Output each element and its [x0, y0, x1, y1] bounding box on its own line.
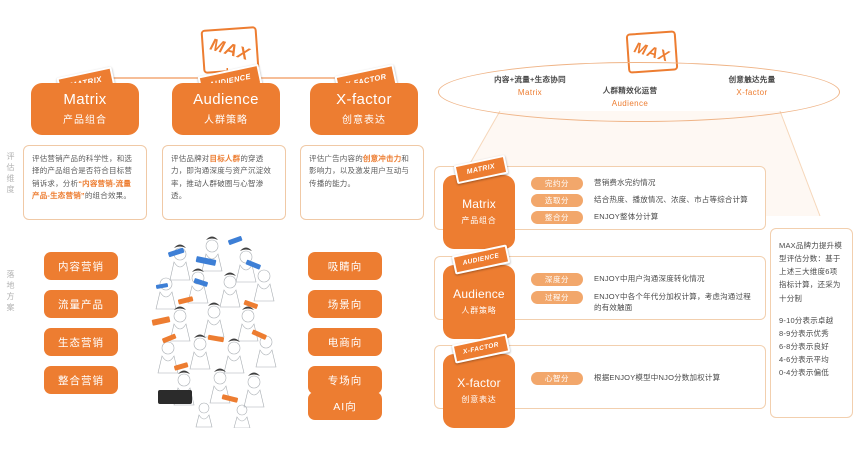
crowd-illustration-svg [150, 232, 290, 428]
score-pill-matrix-2: 整合分 [531, 211, 583, 224]
score-card-audience-en: Audience [453, 288, 505, 301]
score-card-xfactor-en: X-factor [457, 377, 501, 390]
score-card-xfactor-cn: 创意表达 [461, 394, 496, 405]
vlabel-landing-plan: 落地方案 [6, 270, 14, 314]
score-card-xfactor-badge: X-factor 创意表达 [443, 354, 515, 428]
right-tag-1[interactable]: 场景向 [308, 290, 382, 318]
infographic-root: MAX 评估维度 落地方案 MATRIX Matrix 产品组合 评估营销产品的… [0, 0, 857, 459]
right-tag-4[interactable]: AI向 [308, 392, 382, 420]
score-card-matrix-badge: Matrix 产品组合 [443, 175, 515, 249]
ellipse-item-audience-cn: 人群精效化运营 [570, 85, 690, 96]
vlabel-evaluation-dimension: 评估维度 [6, 152, 14, 196]
score-card-matrix-cn: 产品组合 [461, 215, 496, 226]
score-row-audience-0: 深度分 ENJOY中用户沟通深度转化情况 [531, 273, 757, 286]
right-tag-3[interactable]: 专场向 [308, 366, 382, 394]
pillar-audience-cn: 人群策略 [204, 111, 248, 126]
score-scale-paragraph: MAX品牌力提升模型评估分数：基于上述三大维度6项指标计算，还采为十分制 [779, 239, 844, 305]
score-desc-matrix-1: 结合热度、播放情况、浓度、市占等综合计算 [594, 194, 748, 205]
left-tag-2[interactable]: 生态营销 [44, 328, 118, 356]
pillar-audience-en: Audience [193, 92, 259, 109]
score-scale-3: 4-6分表示平均 [779, 353, 844, 366]
right-tag-0[interactable]: 吸睛向 [308, 252, 382, 280]
score-desc-matrix-0: 营销费水完约情况 [594, 177, 656, 188]
pillar-matrix-en: Matrix [63, 92, 106, 109]
score-scale-note: MAX品牌力提升模型评估分数：基于上述三大维度6项指标计算，还采为十分制 9-1… [770, 228, 853, 418]
ellipse-item-xfactor: 创意触达先量 X-factor [692, 74, 812, 97]
score-desc-matrix-2: ENJOY整体分计算 [594, 211, 659, 222]
score-card-xfactor[interactable]: X-factor 创意表达 X-FACTOR 心智分 根据ENJOY模型中NJO… [434, 345, 766, 409]
left-tag-3[interactable]: 整合营销 [44, 366, 118, 394]
score-card-audience[interactable]: Audience 人群策略 AUDIENCE 深度分 ENJOY中用户沟通深度转… [434, 256, 766, 320]
pillar-audience-desc: 评估品牌对目标人群的穿透力，即沟通深度与资产沉淀效率，推动人群破圈与心智渗透。 [162, 145, 286, 220]
pillar-audience-desc-highlight: 目标人群 [210, 154, 241, 163]
ellipse-item-audience-en: Audience [570, 99, 690, 108]
score-scale-4: 0-4分表示偏低 [779, 366, 844, 379]
score-card-audience-cn: 人群策略 [461, 305, 496, 316]
pillar-matrix-desc: 评估营销产品的科学性，和选择的产品组合是否符合目标营销诉求，分析“内容营销-流量… [23, 145, 147, 220]
right-tag-2[interactable]: 电商向 [308, 328, 382, 356]
score-card-matrix-en: Matrix [462, 198, 496, 211]
score-row-matrix-2: 整合分 ENJOY整体分计算 [531, 211, 757, 224]
pillar-xfactor-desc-pre: 评估广告内容的 [309, 154, 363, 163]
left-tag-0[interactable]: 内容营销 [44, 252, 118, 280]
pillar-xfactor-en: X-factor [336, 92, 392, 109]
score-pill-audience-1: 过程分 [531, 291, 583, 304]
score-desc-audience-1: ENJOY中各个年代分加权计算，考虑沟通过程的有效触面 [594, 291, 757, 314]
pillar-xfactor-desc: 评估广告内容的创意冲击力和影响力，以及激发用户互动与传播的能力。 [300, 145, 424, 220]
score-scale-0: 9-10分表示卓越 [779, 314, 844, 327]
right-panel: MAX 内容+流量+生态协同 Matrix 人群精效化运营 Audience 创… [420, 0, 857, 459]
pillar-card-audience[interactable]: Audience 人群策略 [172, 83, 280, 135]
pillar-xfactor-cn: 创意表达 [342, 111, 386, 126]
score-desc-xfactor-0: 根据ENJOY模型中NJO分数加权计算 [594, 372, 720, 383]
score-scale-gap [779, 305, 844, 314]
pillar-card-matrix[interactable]: Matrix 产品组合 [31, 83, 139, 135]
left-tag-1[interactable]: 流量产品 [44, 290, 118, 318]
score-pill-audience-0: 深度分 [531, 273, 583, 286]
pillar-xfactor-desc-highlight: 创意冲击力 [363, 154, 402, 163]
score-pill-matrix-0: 完约分 [531, 177, 583, 190]
crowd-illustration [150, 232, 290, 428]
ellipse-item-audience: 人群精效化运营 Audience [570, 85, 690, 108]
pillar-card-xfactor[interactable]: X-factor 创意表达 [310, 83, 418, 135]
score-pill-matrix-1: 选取分 [531, 194, 583, 207]
score-card-audience-badge: Audience 人群策略 [443, 265, 515, 339]
score-card-matrix[interactable]: Matrix 产品组合 MATRIX 完约分 营销费水完约情况 选取分 结合热度… [434, 166, 766, 230]
score-row-xfactor-0: 心智分 根据ENJOY模型中NJO分数加权计算 [531, 372, 757, 385]
ellipse-item-xfactor-cn: 创意触达先量 [692, 74, 812, 85]
score-scale-1: 8-9分表示优秀 [779, 327, 844, 340]
score-scale-2: 6-8分表示良好 [779, 340, 844, 353]
ellipse-item-matrix-cn: 内容+流量+生态协同 [470, 74, 590, 85]
ellipse-item-xfactor-en: X-factor [692, 88, 812, 97]
score-row-matrix-1: 选取分 结合热度、播放情况、浓度、市占等综合计算 [531, 194, 757, 207]
left-panel: MAX 评估维度 落地方案 MATRIX Matrix 产品组合 评估营销产品的… [0, 0, 420, 459]
score-row-matrix-0: 完约分 营销费水完约情况 [531, 177, 757, 190]
score-desc-audience-0: ENJOY中用户沟通深度转化情况 [594, 273, 705, 284]
score-pill-xfactor-0: 心智分 [531, 372, 583, 385]
score-row-audience-1: 过程分 ENJOY中各个年代分加权计算，考虑沟通过程的有效触面 [531, 291, 757, 314]
pillar-matrix-cn: 产品组合 [63, 111, 107, 126]
pillar-matrix-desc-post: 的组合效果。 [85, 191, 131, 200]
pillar-audience-desc-pre: 评估品牌对 [171, 154, 210, 163]
